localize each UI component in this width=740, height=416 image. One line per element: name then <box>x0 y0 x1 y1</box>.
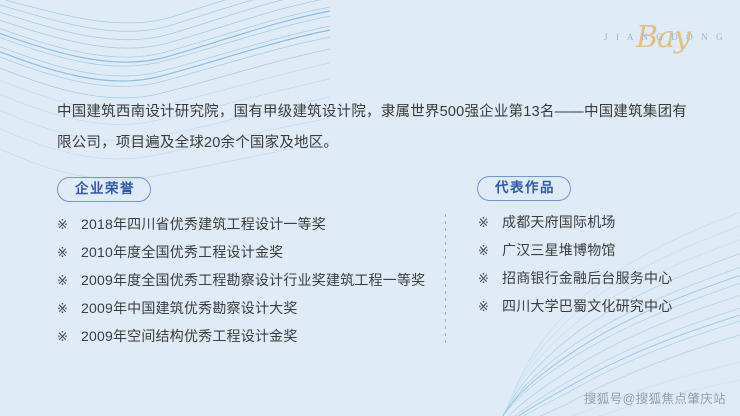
bullet-icon: ※ <box>478 243 502 259</box>
bullet-icon: ※ <box>57 273 81 289</box>
list-item: ※ 招商银行金融后台服务中心 <box>478 268 708 296</box>
bullet-icon: ※ <box>478 215 502 231</box>
bullet-icon: ※ <box>57 329 81 345</box>
bullet-icon: ※ <box>57 301 81 317</box>
slide-canvas: Bay J I A N G D O N G 中国建筑西南设计研究院，国有甲级建筑… <box>0 0 740 416</box>
list-item-label: 招商银行金融后台服务中心 <box>502 268 708 288</box>
works-list: ※ 成都天府国际机场 ※ 广汉三星堆博物馆 ※ 招商银行金融后台服务中心 ※ 四… <box>478 212 708 324</box>
list-item: ※ 成都天府国际机场 <box>478 212 708 240</box>
section-heading-works: 代表作品 <box>477 176 571 201</box>
list-item-label: 2010年度全国优秀工程设计金奖 <box>81 242 437 262</box>
bullet-icon: ※ <box>57 217 81 233</box>
column-divider <box>445 214 446 346</box>
list-item-label: 广汉三星堆博物馆 <box>502 240 708 260</box>
list-item: ※ 2009年中国建筑优秀勘察设计大奖 <box>57 298 437 326</box>
bullet-icon: ※ <box>478 299 502 315</box>
list-item-label: 四川大学巴蜀文化研究中心 <box>502 296 708 316</box>
list-item: ※ 2010年度全国优秀工程设计金奖 <box>57 242 437 270</box>
bullet-icon: ※ <box>478 271 502 287</box>
list-item: ※ 广汉三星堆博物馆 <box>478 240 708 268</box>
list-item-label: 2009年度全国优秀工程勘察设计行业奖建筑工程一等奖 <box>81 270 437 290</box>
intro-paragraph: 中国建筑西南设计研究院，国有甲级建筑设计院，隶属世界500强企业第13名——中国… <box>57 97 687 159</box>
bullet-icon: ※ <box>57 245 81 261</box>
list-item-label: 2009年中国建筑优秀勘察设计大奖 <box>81 298 437 318</box>
brand-logo: Bay J I A N G D O N G <box>604 14 722 66</box>
list-item-label: 2018年四川省优秀建筑工程设计一等奖 <box>81 214 437 234</box>
list-item: ※ 2009年空间结构优秀工程设计金奖 <box>57 326 437 354</box>
list-item-label: 2009年空间结构优秀工程设计金奖 <box>81 326 437 346</box>
section-heading-honors: 企业荣誉 <box>57 177 151 202</box>
list-item-label: 成都天府国际机场 <box>502 212 708 232</box>
honors-list: ※ 2018年四川省优秀建筑工程设计一等奖 ※ 2010年度全国优秀工程设计金奖… <box>57 214 437 354</box>
list-item: ※ 2009年度全国优秀工程勘察设计行业奖建筑工程一等奖 <box>57 270 437 298</box>
list-item: ※ 四川大学巴蜀文化研究中心 <box>478 296 708 324</box>
brand-wordmark: J I A N G D O N G <box>604 32 722 42</box>
list-item: ※ 2018年四川省优秀建筑工程设计一等奖 <box>57 214 437 242</box>
watermark: 搜狐号@搜狐焦点肇庆站 <box>584 388 726 407</box>
